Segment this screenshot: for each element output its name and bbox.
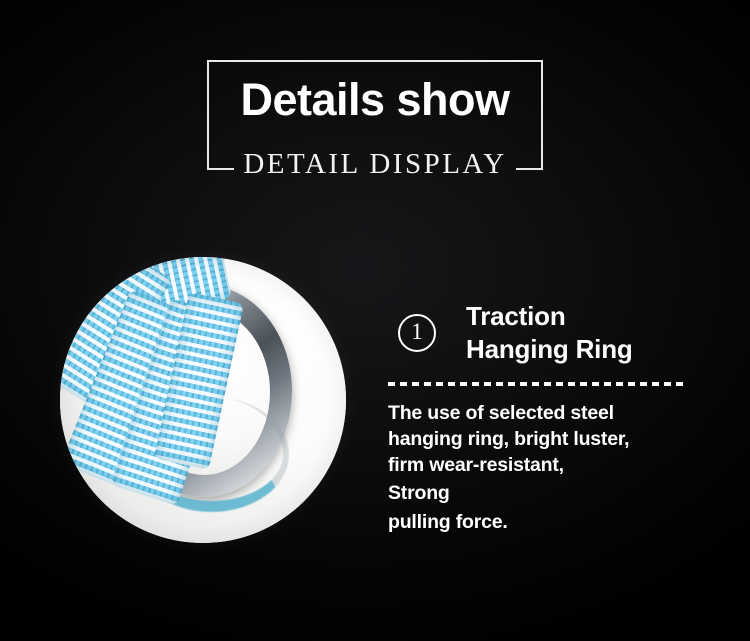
feature-number-badge: 1 xyxy=(398,314,436,352)
description-line: The use of selected steel xyxy=(388,401,698,427)
description-line: firm wear-resistant, xyxy=(388,453,698,479)
feature-description: The use of selected steel hanging ring, … xyxy=(388,401,698,536)
product-photo-circle xyxy=(60,257,346,543)
description-line: hanging ring, bright luster, xyxy=(388,427,698,453)
description-line: pulling force. xyxy=(388,508,698,537)
page-title: Details show xyxy=(207,76,543,123)
feature-callout: 1 Traction Hanging Ring The use of selec… xyxy=(388,300,698,536)
feature-title-line-1: Traction xyxy=(466,300,698,333)
feature-title-line-2: Hanging Ring xyxy=(466,333,698,366)
feature-header: 1 Traction Hanging Ring xyxy=(388,300,698,376)
dashed-divider xyxy=(388,382,687,386)
product-detail-banner: Details show DETAIL DISPLAY 1 Traction H… xyxy=(0,0,750,641)
page-subtitle: DETAIL DISPLAY xyxy=(207,150,543,179)
photo-backdrop xyxy=(60,257,346,543)
frame-top-border xyxy=(207,60,543,62)
description-line: Strong xyxy=(388,479,698,508)
feature-title: Traction Hanging Ring xyxy=(466,300,698,367)
